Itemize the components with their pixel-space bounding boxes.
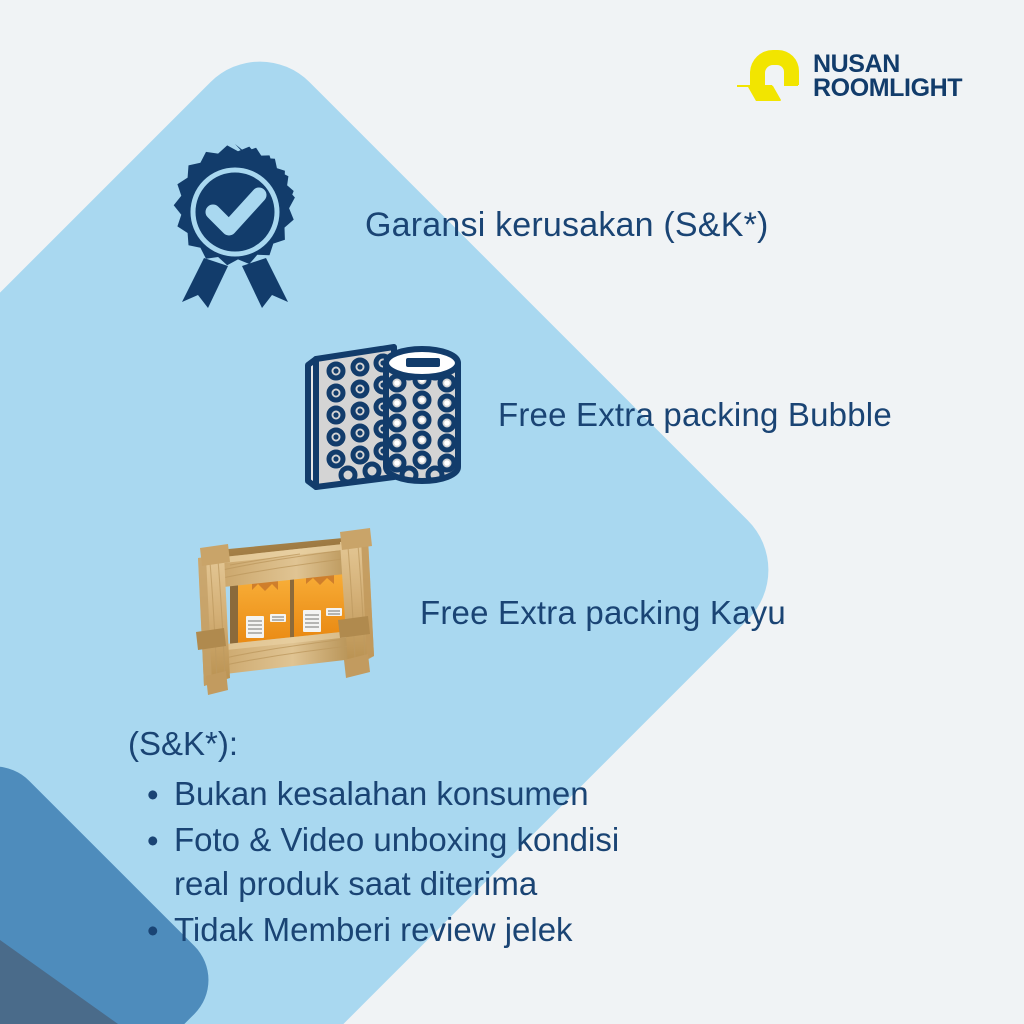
wooden-crate-icon (178, 528, 383, 698)
brand-logo: NUSAN ROOMLIGHT (737, 50, 962, 102)
feature-row-crate: Free Extra packing Kayu (178, 528, 786, 698)
terms-item-line-1: Foto & Video unboxing kondisi (174, 818, 619, 862)
brand-logo-wordmark: NUSAN ROOMLIGHT (813, 52, 962, 101)
terms-item-line-2: real produk saat diterima (174, 862, 619, 906)
promo-poster: NUSAN ROOMLIGHT Garansi kerusakan (S&K*) (0, 0, 1024, 1024)
brand-line-2: ROOMLIGHT (813, 76, 962, 100)
feature-row-bubble: Free Extra packing Bubble (298, 335, 892, 495)
terms-block: (S&K*): • Bukan kesalahan konsumen • Fot… (128, 725, 619, 954)
bullet-icon: • (147, 909, 159, 953)
award-badge-check-icon (160, 140, 310, 310)
nusan-arch-icon (737, 50, 799, 102)
bullet-icon: • (147, 819, 159, 863)
feature-label-bubble: Free Extra packing Bubble (498, 396, 892, 434)
bullet-icon: • (147, 773, 159, 817)
feature-row-guarantee: Garansi kerusakan (S&K*) (160, 140, 769, 310)
terms-item-line-1: Bukan kesalahan konsumen (174, 772, 619, 816)
brand-line-1: NUSAN (813, 52, 962, 76)
slate-corner-shape (0, 940, 118, 1024)
terms-title: (S&K*): (128, 725, 619, 763)
terms-list-item: • Bukan kesalahan konsumen (174, 772, 619, 816)
feature-label-guarantee: Garansi kerusakan (S&K*) (365, 206, 769, 245)
terms-list-item: • Tidak Memberi review jelek (174, 908, 619, 952)
terms-list-item: • Foto & Video unboxing kondisi real pro… (174, 818, 619, 906)
feature-label-crate: Free Extra packing Kayu (420, 594, 786, 632)
terms-item-line-1: Tidak Memberi review jelek (174, 908, 619, 952)
terms-list: • Bukan kesalahan konsumen • Foto & Vide… (128, 772, 619, 952)
bubble-wrap-roll-icon (298, 335, 463, 495)
